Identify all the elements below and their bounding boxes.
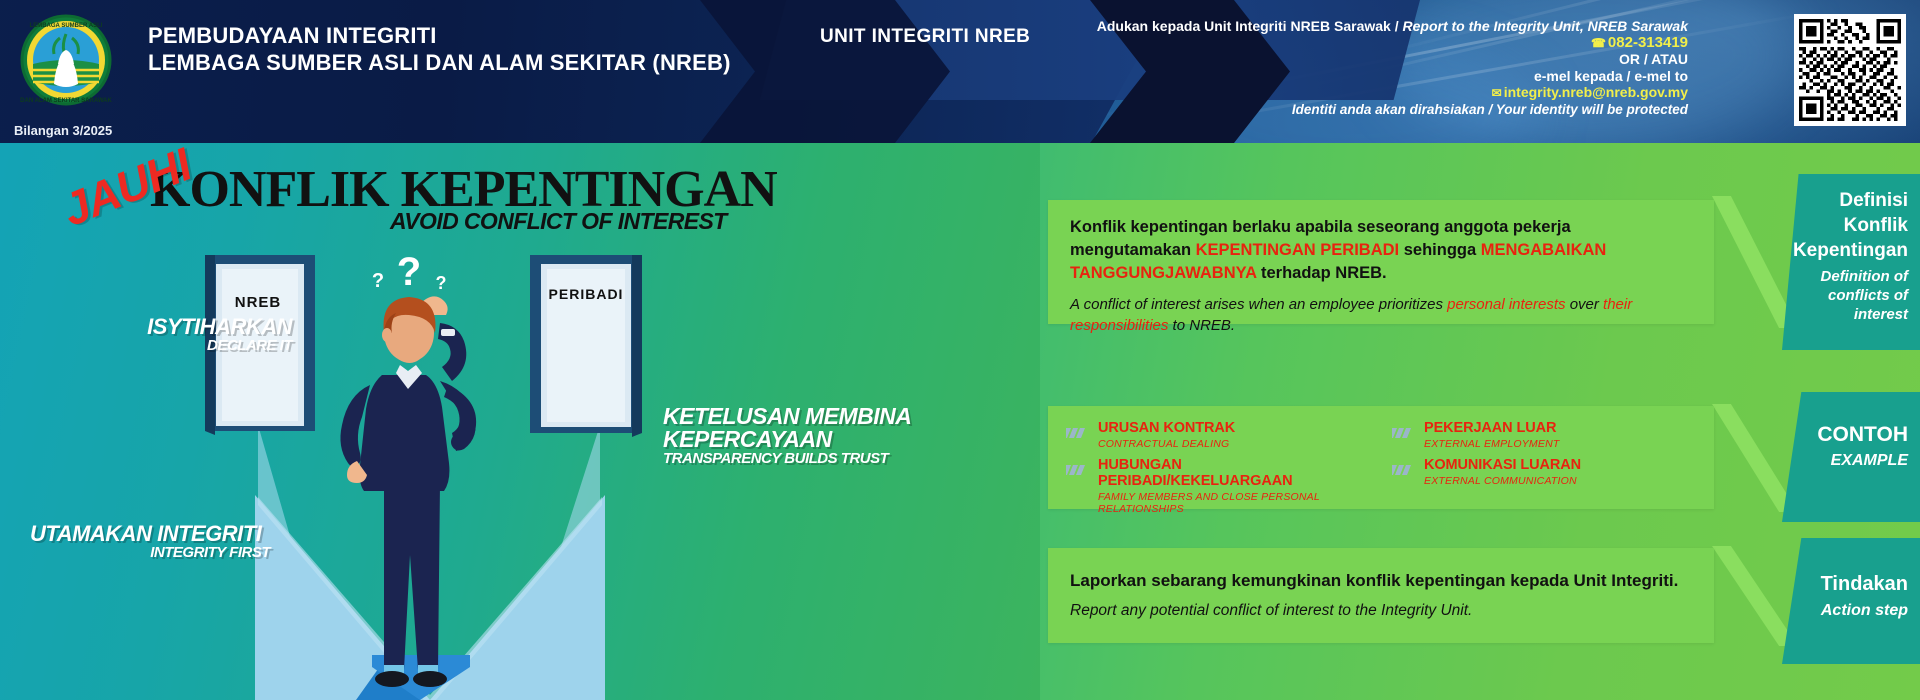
door-right-label-text: PERIBADI (549, 286, 624, 302)
page-subtitle: AVOID CONFLICT OF INTEREST (390, 208, 727, 235)
definition-ms-p3: terhadap NREB. (1256, 264, 1386, 282)
example-item-text: PEKERJAAN LUAR EXTERNAL EMPLOYMENT (1424, 420, 1559, 450)
question-mark-small-right: ? (436, 273, 447, 293)
tag-example-ms: CONTOH (1790, 422, 1908, 447)
example-grid: URUSAN KONTRAK CONTRACTUAL DEALING HUBUN… (1048, 406, 1714, 522)
label-trust-en: TRANSPARENCY BUILDS TRUST (663, 451, 923, 466)
label-transparency: KETELUSAN MEMBINA KEPERCAYAAN TRANSPAREN… (663, 405, 923, 466)
label-trust-ms: KETELUSAN MEMBINA KEPERCAYAAN (663, 405, 923, 451)
contact-email: integrity.nreb@nreb.gov.my (1504, 84, 1688, 100)
definition-ms: Konflik kepentingan berlaku apabila sese… (1070, 216, 1694, 285)
example-item: PEKERJAAN LUAR EXTERNAL EMPLOYMENT (1392, 420, 1700, 450)
door-left-label-text: NREB (235, 294, 282, 311)
definition-en-p1: A conflict of interest arises when an em… (1070, 296, 1447, 313)
definition-en-red1: personal interests (1447, 296, 1565, 313)
tag-action: Tindakan Action step (1782, 538, 1920, 664)
nreb-logo-icon: LEMBAGA SUMBER ASLI DAN ALAM SEKITAR SAR… (18, 12, 114, 108)
definition-ms-red1: KEPENTINGAN PERIBADI (1196, 241, 1400, 259)
question-mark-large: ? (397, 255, 421, 294)
example-item-ms: KOMUNIKASI LUARAN (1424, 457, 1581, 473)
svg-text:DAN ALAM SEKITAR SARAWAK: DAN ALAM SEKITAR SARAWAK (20, 98, 112, 104)
envelope-icon: ✉ (1492, 86, 1502, 100)
contact-email-label: e-mel kepada / e-mel to (1097, 68, 1688, 85)
action-ms: Laporkan sebarang kemungkinan konflik ke… (1070, 569, 1694, 592)
example-item-text: HUBUNGAN PERIBADI/KEKELUARGAAN FAMILY ME… (1098, 457, 1374, 515)
contact-phone: 082-313419 (1608, 34, 1688, 51)
report-ms: Adukan kepada Unit Integriti NREB Sarawa… (1097, 18, 1391, 34)
panel-action: Laporkan sebarang kemungkinan konflik ke… (1048, 548, 1714, 643)
issue-number: Bilangan 3/2025 (14, 123, 112, 138)
label-integrity-first: UTAMAKAN INTEGRITI INTEGRITY FIRST (30, 523, 270, 560)
definition-ms-p2: sehingga (1399, 241, 1481, 259)
arrows-icon (1066, 425, 1090, 443)
phone-icon: ☎ (1591, 36, 1606, 50)
tag-definition: Definisi Konflik Kepentingan Definition … (1782, 174, 1920, 350)
definition-en: A conflict of interest arises when an em… (1070, 294, 1694, 336)
report-line: Adukan kepada Unit Integriti NREB Sarawa… (1097, 18, 1688, 35)
example-item-ms: HUBUNGAN PERIBADI/KEKELUARGAAN (1098, 457, 1374, 489)
example-item: URUSAN KONTRAK CONTRACTUAL DEALING (1066, 420, 1374, 450)
poster-root: LEMBAGA SUMBER ASLI DAN ALAM SEKITAR SAR… (0, 0, 1920, 700)
qr-code[interactable] (1794, 14, 1906, 126)
unit-banner-title: UNIT INTEGRITI NREB (820, 26, 1030, 48)
definition-en-p3: to NREB. (1168, 317, 1235, 334)
arrows-icon (1066, 462, 1090, 480)
example-item: HUBUNGAN PERIBADI/KEKELUARGAAN FAMILY ME… (1066, 457, 1374, 515)
example-item-en: EXTERNAL EMPLOYMENT (1424, 438, 1559, 450)
tag-definition-ms: Definisi Konflik Kepentingan (1790, 188, 1908, 263)
privacy-note: Identiti anda akan dirahsiakan / Your id… (1097, 102, 1688, 119)
label-declare: ISYTIHARKAN DECLARE IT (112, 316, 292, 353)
label-declare-en: DECLARE IT (112, 338, 292, 353)
arrows-icon (1392, 425, 1416, 443)
tag-example-en: EXAMPLE (1790, 451, 1908, 470)
example-column-left: URUSAN KONTRAK CONTRACTUAL DEALING HUBUN… (1066, 420, 1374, 522)
report-separator: / (1395, 18, 1399, 34)
example-item-en: FAMILY MEMBERS AND CLOSE PERSONAL RELATI… (1098, 491, 1374, 515)
tag-definition-inner: Definisi Konflik Kepentingan Definition … (1782, 174, 1920, 324)
panel-action-text: Laporkan sebarang kemungkinan konflik ke… (1048, 548, 1714, 621)
label-integrity-en: INTEGRITY FIRST (30, 545, 270, 560)
example-item-ms: URUSAN KONTRAK (1098, 420, 1235, 436)
example-item-text: URUSAN KONTRAK CONTRACTUAL DEALING (1098, 420, 1235, 450)
org-title-line2: LEMBAGA SUMBER ASLI DAN ALAM SEKITAR (NR… (148, 49, 731, 76)
example-column-right: PEKERJAAN LUAR EXTERNAL EMPLOYMENT KOMUN… (1392, 420, 1700, 522)
report-en: Report to the Integrity Unit, NREB Saraw… (1403, 18, 1688, 34)
tag-example: CONTOH EXAMPLE (1782, 392, 1920, 522)
contact-email-line[interactable]: ✉integrity.nreb@nreb.gov.my (1097, 84, 1688, 102)
example-item-ms: PEKERJAAN LUAR (1424, 420, 1559, 436)
example-item-text: KOMUNIKASI LUARAN EXTERNAL COMMUNICATION (1424, 457, 1581, 487)
panel-example: URUSAN KONTRAK CONTRACTUAL DEALING HUBUN… (1048, 406, 1714, 509)
panel-definition: Konflik kepentingan berlaku apabila sese… (1048, 200, 1714, 324)
question-mark-small-left: ? (372, 270, 384, 292)
tag-action-ms: Tindakan (1790, 572, 1908, 597)
action-en: Report any potential conflict of interes… (1070, 600, 1694, 621)
tag-definition-en: Definition of conflicts of interest (1790, 267, 1908, 324)
tag-example-inner: CONTOH EXAMPLE (1782, 392, 1920, 470)
example-item-en: EXTERNAL COMMUNICATION (1424, 475, 1581, 487)
contact-block: Adukan kepada Unit Integriti NREB Sarawa… (1097, 18, 1688, 118)
contact-or: OR / ATAU (1097, 51, 1688, 68)
org-title-line1: PEMBUDAYAAN INTEGRITI (148, 22, 731, 49)
panel-definition-text: Konflik kepentingan berlaku apabila sese… (1048, 200, 1714, 336)
example-item-en: CONTRACTUAL DEALING (1098, 438, 1235, 450)
example-item: KOMUNIKASI LUARAN EXTERNAL COMMUNICATION (1392, 457, 1700, 487)
tag-action-en: Action step (1790, 601, 1908, 620)
definition-en-p2: over (1566, 296, 1604, 313)
tag-action-inner: Tindakan Action step (1782, 538, 1920, 620)
label-integrity-ms: UTAMAKAN INTEGRITI (30, 523, 270, 545)
org-title: PEMBUDAYAAN INTEGRITI LEMBAGA SUMBER ASL… (148, 22, 731, 76)
contact-phone-line[interactable]: ☎082-313419 (1097, 35, 1688, 52)
label-declare-ms: ISYTIHARKAN (112, 316, 292, 338)
arrows-icon (1392, 462, 1416, 480)
svg-text:LEMBAGA SUMBER ASLI: LEMBAGA SUMBER ASLI (30, 23, 103, 29)
